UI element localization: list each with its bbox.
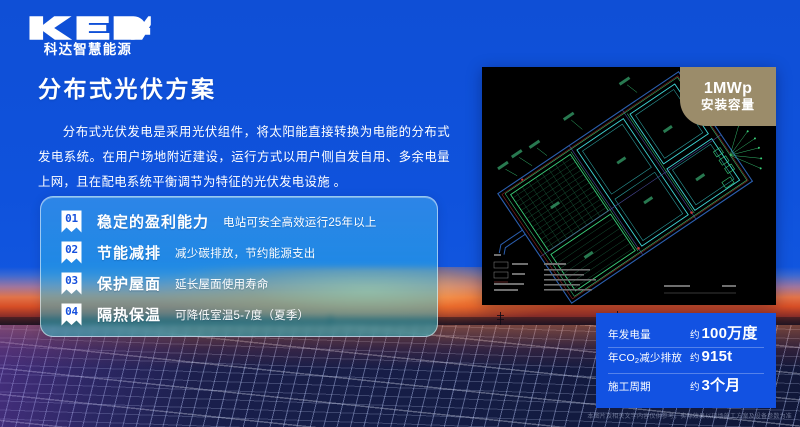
cad-site-plan-card[interactable]: 1MWp 安装容量 — [482, 67, 776, 305]
stat-value: 100万度 — [702, 322, 758, 343]
feature-desc: 可降低室温5-7度（夏季） — [175, 307, 309, 323]
feature-item-01[interactable]: 01 稳定的盈利能力 电站可安全高效运行25年以上 — [59, 206, 437, 237]
stat-value: 3个月 — [702, 374, 741, 395]
number-badge-icon: 03 — [59, 271, 84, 296]
number-badge-icon: 04 — [59, 302, 84, 327]
brand-logo: 科达智慧能源 — [27, 15, 149, 57]
stat-label: 施工周期 — [608, 379, 690, 394]
footer-disclaimer: 本图片及相关文字内容仅供参考，实际效果以现场施工方案及设备参数为准 — [587, 411, 792, 420]
feature-number: 04 — [59, 306, 84, 317]
feature-list-panel: 01 稳定的盈利能力 电站可安全高效运行25年以上 02 节能减排 减少碳排放，… — [40, 196, 438, 337]
feature-desc: 延长屋面使用寿命 — [175, 276, 269, 292]
feature-desc: 电站可安全高效运行25年以上 — [223, 214, 377, 230]
page-title: 分布式光伏方案 — [38, 77, 217, 102]
stat-label-main: 年CO — [608, 352, 635, 364]
stat-label: 年CO2减少排放 — [608, 350, 690, 365]
capacity-label: 安装容量 — [701, 99, 755, 113]
intro-paragraph: 分布式光伏发电是采用光伏组件，将太阳能直接转换为电能的分布式发电系统。在用户场地… — [38, 120, 450, 194]
feature-title: 节能减排 — [97, 242, 161, 263]
number-badge-icon: 02 — [59, 240, 84, 265]
feature-item-03[interactable]: 03 保护屋面 延长屋面使用寿命 — [59, 268, 437, 299]
stat-value: 915t — [702, 348, 733, 365]
feature-number: 01 — [59, 213, 84, 224]
stat-row-annual-generation: 年发电量 约 100万度 — [596, 322, 776, 347]
keda-wordmark-icon — [27, 15, 151, 41]
panel-purple-tint — [0, 325, 190, 427]
stat-row-construction-period: 施工周期 约 3个月 — [596, 374, 776, 399]
stat-prefix: 约 — [690, 379, 700, 393]
feature-number: 03 — [59, 275, 84, 286]
capacity-value: 1MWp — [704, 80, 752, 98]
stat-row-co2-reduction: 年CO2减少排放 约 915t — [596, 348, 776, 373]
feature-title: 保护屋面 — [97, 273, 161, 294]
stat-label: 年发电量 — [608, 327, 690, 342]
stat-prefix: 约 — [690, 350, 700, 364]
stat-label-subscript: 2 — [635, 356, 639, 365]
feature-item-04[interactable]: 04 隔热保温 可降低室温5-7度（夏季） — [59, 299, 437, 330]
feature-number: 02 — [59, 244, 84, 255]
brand-name-cn: 科达智慧能源 — [27, 43, 149, 57]
number-badge-icon: 01 — [59, 209, 84, 234]
capacity-badge: 1MWp 安装容量 — [680, 67, 776, 126]
stats-panel: 年发电量 约 100万度 年CO2减少排放 约 915t 施工周期 约 3个月 — [596, 313, 776, 408]
feature-title: 隔热保温 — [97, 304, 161, 325]
stat-label-tail: 减少排放 — [639, 352, 682, 364]
feature-item-02[interactable]: 02 节能减排 减少碳排放，节约能源支出 — [59, 237, 437, 268]
feature-title: 稳定的盈利能力 — [97, 211, 209, 232]
slide-root: 科达智慧能源 分布式光伏方案 分布式光伏发电是采用光伏组件，将太阳能直接转换为电… — [0, 0, 800, 427]
stat-prefix: 约 — [690, 327, 700, 341]
feature-desc: 减少碳排放，节约能源支出 — [175, 245, 315, 261]
